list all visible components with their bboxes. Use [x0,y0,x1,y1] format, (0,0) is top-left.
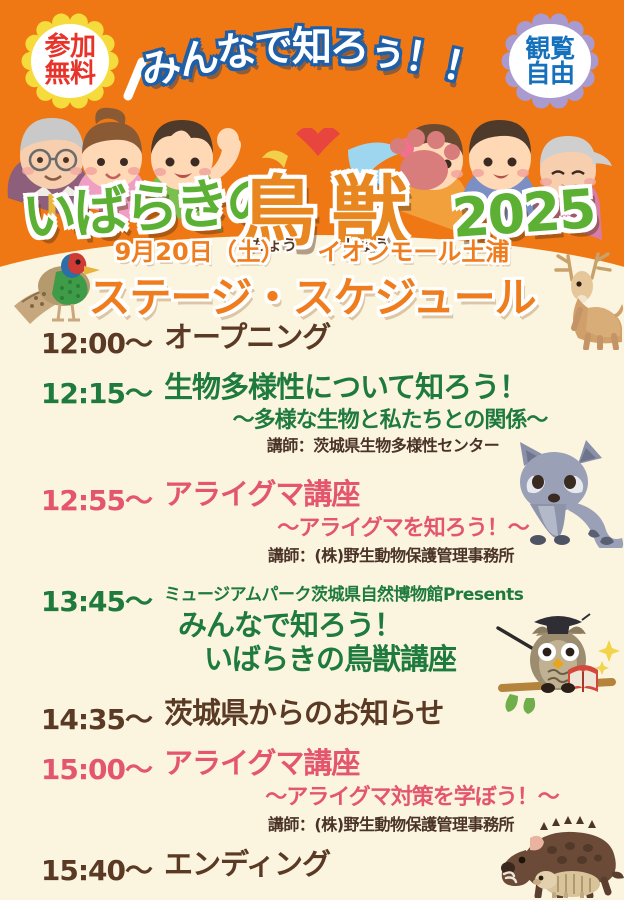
badge-free-line2: 無料 [44,61,95,88]
slogan-char: で [252,14,295,74]
badge-free-line1: 参加 [44,34,95,61]
schedule-time: 12:55〜 [0,479,164,519]
schedule-row: 12:00〜 オープニング [0,322,624,362]
schedule-title: アライグマ講座 [164,748,624,780]
schedule-time: 15:40〜 [0,849,164,889]
badge-view-text: 観覧 自由 [525,36,574,87]
pheasant-illustration [12,242,104,334]
schedule-time: 12:00〜 [0,322,164,362]
slogan-char: ろ [328,14,371,74]
event-date: 9月20日（土） [115,238,285,266]
schedule-time: 14:35〜 [0,698,164,738]
schedule-subtitle: 〜多様な生物と私たちとの関係〜 [156,407,624,435]
badge-free-admission: 参加 無料 [20,13,120,109]
slogan-char: な [213,17,259,79]
schedule-detail: オープニング [164,322,624,354]
schedule-time: 15:00〜 [0,748,164,788]
schedule-subtitle: 〜アライグマ対策を学ぼう！〜 [200,784,624,812]
raccoon-illustration [504,432,624,548]
schedule-presents: ミュージアムパーク茨城県自然博物館Presents [164,584,624,606]
badge-view-line1: 観覧 [525,36,574,62]
badge-view-line2: 自由 [525,61,574,87]
badge-free-viewing: 観覧 自由 [498,13,602,109]
badge-free-text: 参加 無料 [44,34,95,87]
schedule-time: 12:15〜 [0,372,164,412]
wild-boar-illustration [496,816,624,898]
event-venue: イオンモール土浦 [317,238,509,266]
schedule-title: オープニング [164,322,624,354]
slogan-char: ぅ [365,17,411,79]
poster-root: いばらきの 鳥 獣 ちょう じゅう 2025 [0,0,624,900]
schedule-lecturer: 講師：(株)野生動物保護管理事務所 [158,546,624,567]
owl-professor-illustration [496,606,624,724]
schedule-time: 13:45〜 [0,580,164,620]
slogan-char: 知 [292,14,332,72]
schedule-title: 生物多様性について知ろう！ [164,372,624,404]
